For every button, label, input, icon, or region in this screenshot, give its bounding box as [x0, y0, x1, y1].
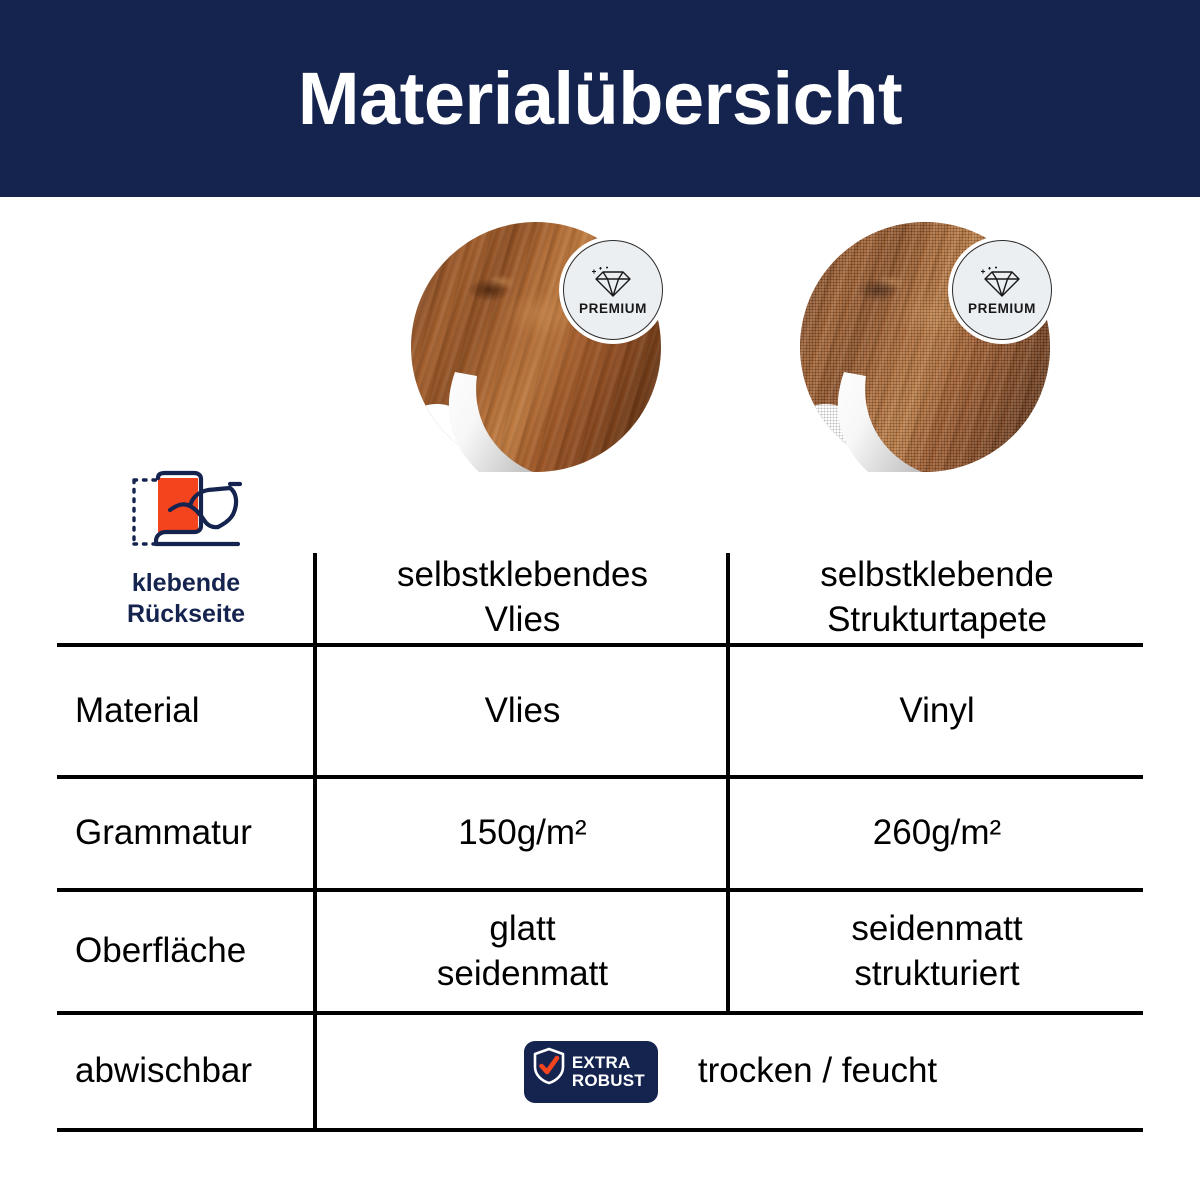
extra-robust-label: EXTRA ROBUST: [572, 1054, 645, 1089]
extra-robust-line1: EXTRA: [572, 1053, 631, 1072]
table-cell-grammatur-vlies: 150g/m²: [318, 779, 727, 888]
table-row-label-grammatur: Grammatur: [75, 779, 315, 888]
table-row-label-material: Material: [75, 647, 315, 775]
name-vlies-line2: Vlies: [397, 598, 648, 643]
table-cell-oberflaeche-strukturtapete: seidenmatt strukturiert: [731, 892, 1143, 1011]
diamond-icon: [590, 265, 636, 299]
name-struktur-line1: selbstklebende: [820, 553, 1054, 598]
table-cell-name-vlies: selbstklebendes Vlies: [318, 553, 727, 643]
extra-robust-badge: EXTRA ROBUST: [524, 1041, 658, 1103]
adhesive-label-line2: Rückseite: [127, 599, 245, 630]
premium-badge: PREMIUM: [563, 240, 663, 340]
table-row-label-oberflaeche: Oberfläche: [75, 892, 315, 1011]
page-header: Materialübersicht: [0, 0, 1200, 197]
oberflaeche-struktur-line2: strukturiert: [851, 952, 1022, 997]
product-sample-vlies: PREMIUM: [411, 222, 661, 472]
abwischbar-value: trocken / feucht: [698, 1049, 937, 1094]
adhesive-label-line1: klebende: [127, 568, 245, 599]
name-vlies-line1: selbstklebendes: [397, 553, 648, 598]
table-cell-name-strukturtapete: selbstklebende Strukturtapete: [731, 553, 1143, 643]
material-overview-page: Materialübersicht PREMIUM: [0, 0, 1200, 1200]
diamond-icon: [979, 265, 1025, 299]
table-rule-bottom: [57, 1128, 1143, 1132]
table-cell-material-vlies: Vlies: [318, 647, 727, 775]
oberflaeche-vlies-line1: glatt: [437, 907, 608, 952]
shield-check-icon: [532, 1046, 566, 1098]
peel-hand-icon: [126, 470, 246, 559]
adhesive-backing-label: klebende Rückseite: [127, 568, 245, 629]
premium-badge: PREMIUM: [952, 240, 1052, 340]
extra-robust-line2: ROBUST: [572, 1071, 645, 1090]
table-cell-oberflaeche-vlies: glatt seidenmatt: [318, 892, 727, 1011]
premium-badge-label: PREMIUM: [968, 302, 1036, 316]
name-struktur-line2: Strukturtapete: [820, 598, 1054, 643]
page-title: Materialübersicht: [298, 62, 902, 136]
table-cell-grammatur-strukturtapete: 260g/m²: [731, 779, 1143, 888]
product-sample-strukturtapete: PREMIUM: [800, 222, 1050, 472]
adhesive-backing-block: klebende Rückseite: [57, 470, 315, 629]
table-cell-material-strukturtapete: Vinyl: [731, 647, 1143, 775]
oberflaeche-vlies-line2: seidenmatt: [437, 952, 608, 997]
table-row-label-abwischbar: abwischbar: [75, 1015, 315, 1128]
premium-badge-label: PREMIUM: [579, 302, 647, 316]
oberflaeche-struktur-line1: seidenmatt: [851, 907, 1022, 952]
table-cell-abwischbar-merged: EXTRA ROBUST trocken / feucht: [318, 1015, 1143, 1128]
